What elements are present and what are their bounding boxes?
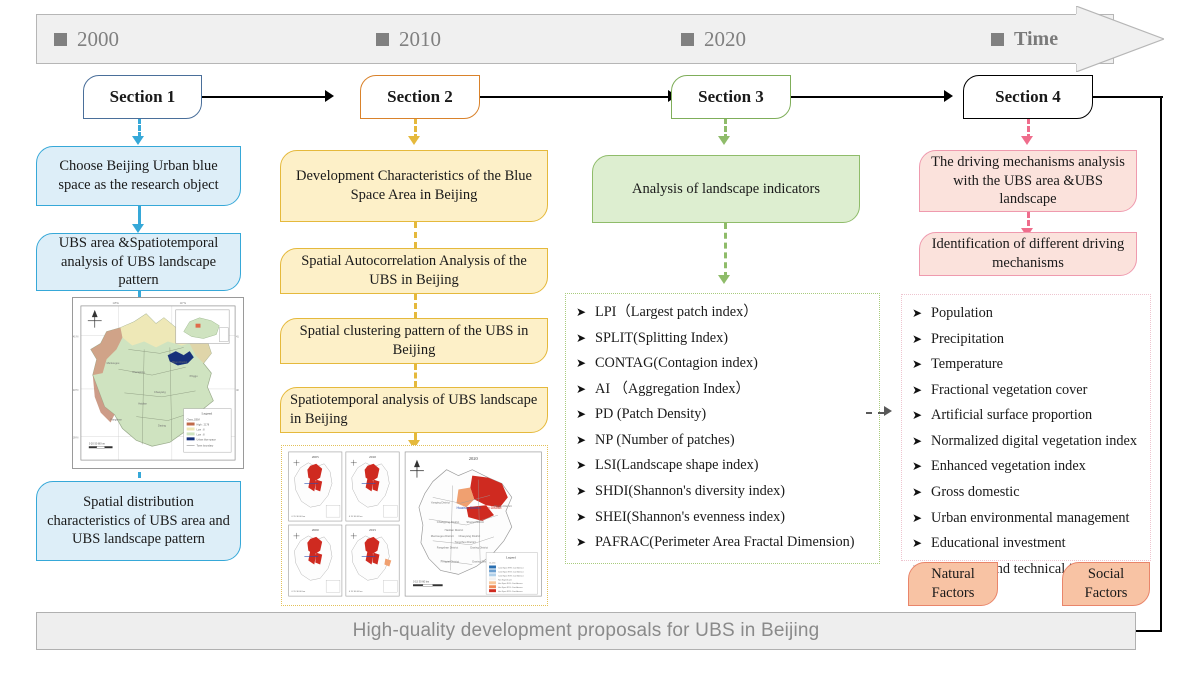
factor-label: Fractional vegetation cover <box>931 378 1087 404</box>
indicator-label: NP (Number of patches) <box>595 428 735 454</box>
indicator-label: LSI(Landscape shape index) <box>595 453 759 479</box>
timeline-arrowhead-icon <box>1076 6 1164 72</box>
connector-lists-dash <box>866 412 884 414</box>
svg-text:Yanqing District: Yanqing District <box>431 500 450 504</box>
svg-text:Pinggu: Pinggu <box>190 374 199 378</box>
section-label: Section 4 <box>995 87 1061 107</box>
arrowhead-icon <box>132 224 144 233</box>
svg-text:Mentougou: Mentougou <box>107 361 120 365</box>
indicator-list: ➤LPI（Largest patch index）➤SPLIT(Splittin… <box>566 294 879 562</box>
box-label: Spatial Autocorrelation Analysis of the … <box>290 252 538 289</box>
indicator-item: ➤SPLIT(Splitting Index) <box>576 326 873 352</box>
factor-label: Gross domestic <box>931 480 1020 506</box>
indicator-label: SHDI(Shannon's diversity index) <box>595 479 785 505</box>
box-label: Identification of different driving mech… <box>929 235 1127 272</box>
factor-item: ➤ Precipitation <box>912 327 1144 353</box>
svg-text:Changping: Changping <box>132 370 145 374</box>
bullet-arrow-icon: ➤ <box>576 430 595 451</box>
factor-label: Temperature <box>931 352 1003 378</box>
svg-text:0 15 30 60 km: 0 15 30 60 km <box>349 591 363 593</box>
map-graphic: MentougouMiyun District PingguChangping … <box>73 298 243 468</box>
indicator-label: PD (Patch Density) <box>595 402 706 428</box>
svg-text:Changping District: Changping District <box>437 520 460 524</box>
indicator-item: ➤LSI(Landscape shape index) <box>576 453 873 479</box>
svg-text:Shunyi District: Shunyi District <box>466 520 484 524</box>
bullet-arrow-icon: ➤ <box>576 507 595 528</box>
bullet-arrow-icon: ➤ <box>576 532 595 553</box>
connector-s3-s4 <box>789 96 947 98</box>
indicator-label: SPLIT(Splitting Index) <box>595 326 728 352</box>
svg-text:High : 2178: High : 2178 <box>197 424 210 427</box>
indicator-label: AI （Aggregation Index） <box>595 377 750 403</box>
svg-text:Mentougou District: Mentougou District <box>431 534 454 538</box>
svg-text:Cold Spot 99% Confidence: Cold Spot 99% Confidence <box>498 566 525 569</box>
bullet-arrow-icon: ➤ <box>576 455 595 476</box>
svg-text:Fangshan District: Fangshan District <box>437 546 459 550</box>
bullet-arrow-icon: ➤ <box>912 482 931 503</box>
connector-dash <box>414 364 417 387</box>
section-label: Section 1 <box>110 87 176 107</box>
banner-label: High-quality development proposals for U… <box>353 620 820 642</box>
svg-text:Fengtai District: Fengtai District <box>441 560 460 564</box>
svg-text:Low : 8: Low : 8 <box>197 428 206 431</box>
box-label: Analysis of landscape indicators <box>632 180 820 199</box>
indicator-label: CONTAG(Contagion index) <box>595 351 758 377</box>
svg-text:Daxing: Daxing <box>158 423 167 427</box>
timeline-tick-1: 2010 <box>376 14 441 64</box>
c2-map-panel: 2005 0 15 30 60 km 2010 0 15 30 60 km <box>281 445 548 606</box>
c2-box-development-characteristics[interactable]: Development Characteristics of the Blue … <box>280 150 548 222</box>
svg-text:0 15 30 60 km: 0 15 30 60 km <box>292 591 306 593</box>
svg-text:Miyun District: Miyun District <box>172 360 188 364</box>
bullet-square-icon <box>376 33 389 46</box>
connector-dash <box>138 118 141 138</box>
bullet-arrow-icon: ➤ <box>576 328 595 349</box>
svg-text:115°E: 115°E <box>113 302 120 305</box>
svg-text:Cold Spot 95% Confidence: Cold Spot 95% Confidence <box>498 570 525 573</box>
svg-text:Daxing District: Daxing District <box>470 546 488 550</box>
bullet-arrow-icon: ➤ <box>912 354 931 375</box>
connector-dash <box>414 294 417 318</box>
bullet-arrow-icon: ➤ <box>912 508 931 529</box>
factor-item: ➤Urban environmental management <box>912 506 1144 532</box>
box-label: Spatiotemporal analysis of UBS landscape… <box>290 391 538 428</box>
section-2-header[interactable]: Section 2 <box>360 75 480 119</box>
svg-text:Haidian: Haidian <box>138 402 147 406</box>
timeline-bar <box>36 14 1114 64</box>
factor-label: Artificial surface proportion <box>931 403 1092 429</box>
indicator-item: ➤AI （Aggregation Index） <box>576 377 873 403</box>
box-label: The driving mechanisms analysis with the… <box>929 153 1127 209</box>
svg-text:Hot Spot 99% Confidence: Hot Spot 99% Confidence <box>498 590 524 593</box>
c1-box-ubs-area[interactable]: UBS area &Spatiotemporal analysis of UBS… <box>36 233 241 291</box>
c1-box-research-object[interactable]: Choose Beijing Urban blue space as the r… <box>36 146 241 206</box>
factor-item: ➤Enhanced vegetation index <box>912 454 1144 480</box>
svg-text:Urban blue space: Urban blue space <box>197 438 217 441</box>
bullet-square-icon <box>681 33 694 46</box>
factor-item: ➤Population <box>912 301 1144 327</box>
section-1-header[interactable]: Section 1 <box>83 75 202 119</box>
connector-dash <box>724 223 727 278</box>
connector-right-down <box>1160 96 1162 631</box>
svg-text:0 15 30 60 km: 0 15 30 60 km <box>349 516 363 518</box>
svg-text:Low : 8: Low : 8 <box>197 433 206 436</box>
c4-factor-list-panel: ➤Population➤ Precipitation➤Temperature➤F… <box>901 294 1151 561</box>
bullet-arrow-icon: ➤ <box>576 353 595 374</box>
arrowhead-icon <box>944 90 953 102</box>
factor-item: ➤Fractional vegetation cover <box>912 378 1144 404</box>
svg-text:39°N: 39°N <box>73 436 79 439</box>
svg-text:Chaoyang District: Chaoyang District <box>458 534 480 538</box>
svg-text:Town boundary: Town boundary <box>197 444 215 447</box>
svg-text:Legend: Legend <box>201 412 212 416</box>
c3-box-analysis-indicators[interactable]: Analysis of landscape indicators <box>592 155 860 223</box>
factor-item: ➤Artificial surface proportion <box>912 403 1144 429</box>
svg-text:117°E: 117°E <box>180 302 187 305</box>
bullet-arrow-icon: ➤ <box>912 431 931 452</box>
arrowhead-icon <box>408 136 420 145</box>
svg-text:41°N: 41°N <box>73 336 79 339</box>
timeline-tick-label: 2020 <box>704 27 746 52</box>
indicator-item: ➤SHDI(Shannon's diversity index) <box>576 479 873 505</box>
svg-text:0 20 50 80 km: 0 20 50 80 km <box>89 441 105 445</box>
factor-item: ➤Gross domestic <box>912 480 1144 506</box>
svg-text:Gi_Bin: Gi_Bin <box>489 563 496 565</box>
indicator-label: PAFRAC(Perimeter Area Fractal Dimension) <box>595 530 855 556</box>
c4-natural-factors-box[interactable]: Natural Factors <box>908 562 998 606</box>
svg-text:2010: 2010 <box>369 455 376 459</box>
factor-label: Normalized digital vegetation index <box>931 429 1137 455</box>
c4-box-driving-mechanisms[interactable]: The driving mechanisms analysis with the… <box>919 150 1137 212</box>
indicator-item: ➤PD (Patch Density) <box>576 402 873 428</box>
svg-text:0 15 30 60 km: 0 15 30 60 km <box>292 516 306 518</box>
arrowhead-icon <box>884 406 892 416</box>
bullet-arrow-icon: ➤ <box>912 380 931 401</box>
svg-text:2015: 2015 <box>369 528 376 532</box>
c2-box-spatial-autocorrelation[interactable]: Spatial Autocorrelation Analysis of the … <box>280 248 548 294</box>
svg-text:Haidian District: Haidian District <box>445 528 464 532</box>
bottom-banner: High-quality development proposals for U… <box>36 612 1136 650</box>
indicator-label: LPI（Largest patch index） <box>595 300 758 326</box>
svg-text:2020: 2020 <box>469 456 479 461</box>
factor-label: Urban environmental management <box>931 506 1130 532</box>
indicator-item: ➤LPI（Largest patch index） <box>576 300 873 326</box>
bullet-square-icon <box>991 33 1004 46</box>
factor-label: Enhanced vegetation index <box>931 454 1086 480</box>
factor-label: Precipitation <box>931 327 1004 353</box>
indicator-item: ➤PAFRAC(Perimeter Area Fractal Dimension… <box>576 530 873 556</box>
svg-text:Cold Spot 90% Confidence: Cold Spot 90% Confidence <box>498 574 525 577</box>
section-3-header[interactable]: Section 3 <box>671 75 791 119</box>
bullet-arrow-icon: ➤ <box>912 533 931 554</box>
bullet-arrow-icon: ➤ <box>912 405 931 426</box>
timeline-tick-2: 2020 <box>681 14 746 64</box>
timeline-tick-label: Time <box>1014 28 1058 51</box>
svg-text:Hot Spot 90% Confidence: Hot Spot 90% Confidence <box>498 582 524 585</box>
c1-beijing-dem-map: MentougouMiyun District PingguChangping … <box>72 297 244 469</box>
connector-s2-s3 <box>478 96 671 98</box>
svg-text:Not Significant: Not Significant <box>498 578 512 581</box>
svg-text:2000: 2000 <box>312 528 319 532</box>
c4-social-factors-box[interactable]: Social Factors <box>1062 562 1150 606</box>
timeline-tick-0: 2000 <box>54 14 119 64</box>
box-label: Spatial distribution characteristics of … <box>46 493 231 549</box>
box-label: Development Characteristics of the Blue … <box>290 167 538 204</box>
indicator-item: ➤SHEI(Shannon's evenness index) <box>576 505 873 531</box>
box-label: Natural Factors <box>918 565 988 602</box>
timeline-header: 2000 2010 2020 Time <box>36 14 1164 64</box>
box-label: Choose Beijing Urban blue space as the r… <box>46 157 231 194</box>
box-label: Social Factors <box>1072 565 1140 602</box>
bullet-arrow-icon: ➤ <box>576 302 595 323</box>
factor-item: ➤Educational investment <box>912 531 1144 557</box>
arrowhead-icon <box>1021 136 1033 145</box>
bullet-square-icon <box>54 33 67 46</box>
section-label: Section 2 <box>387 87 453 107</box>
section-label: Section 3 <box>698 87 764 107</box>
svg-text:40°N: 40°N <box>73 389 79 392</box>
bullet-arrow-icon: ➤ <box>576 404 595 425</box>
indicator-item: ➤NP (Number of patches) <box>576 428 873 454</box>
indicator-label: SHEI(Shannon's evenness index) <box>595 505 785 531</box>
svg-text:Pinggu District: Pinggu District <box>494 504 512 508</box>
section-4-header[interactable]: Section 4 <box>963 75 1093 119</box>
hotspot-maps-graphic: 2005 0 15 30 60 km 2010 0 15 30 60 km <box>282 446 547 605</box>
connector-s4-right <box>1091 96 1163 98</box>
svg-text:Legend: Legend <box>506 556 516 560</box>
svg-text:2005: 2005 <box>312 455 319 459</box>
bullet-arrow-icon: ➤ <box>912 303 931 324</box>
arrowhead-icon <box>325 90 334 102</box>
timeline-tick-3: Time <box>991 14 1058 64</box>
svg-text:Hot Spot 95% Confidence: Hot Spot 95% Confidence <box>498 586 524 589</box>
factor-item: ➤Normalized digital vegetation index <box>912 429 1144 455</box>
factor-label: Population <box>931 301 993 327</box>
bullet-arrow-icon: ➤ <box>576 379 595 400</box>
arrowhead-icon <box>132 136 144 145</box>
factor-item: ➤Temperature <box>912 352 1144 378</box>
svg-text:0 15 30 60 k: 0 15 30 60 km <box>413 579 429 583</box>
c2-box-spatial-clustering[interactable]: Spatial clustering pattern of the UBS in… <box>280 318 548 364</box>
timeline-tick-label: 2000 <box>77 27 119 52</box>
svg-text:Fangshan: Fangshan <box>111 418 123 422</box>
bullet-arrow-icon: ➤ <box>576 481 595 502</box>
svg-text:Tongzhou District: Tongzhou District <box>454 540 475 544</box>
bullet-arrow-icon: ➤ <box>912 456 931 477</box>
connector-s1-s2 <box>200 96 328 98</box>
factor-list: ➤Population➤ Precipitation➤Temperature➤F… <box>902 295 1150 588</box>
c2-box-spatiotemporal-analysis[interactable]: Spatiotemporal analysis of UBS landscape… <box>280 387 548 433</box>
c3-indicator-list-panel: ➤LPI（Largest patch index）➤SPLIT(Splittin… <box>565 293 880 564</box>
c4-box-identification[interactable]: Identification of different driving mech… <box>919 232 1137 276</box>
svg-text:Huairou District: Huairou District <box>456 506 480 510</box>
factor-label: Educational investment <box>931 531 1066 557</box>
c1-box-spatial-distribution[interactable]: Spatial distribution characteristics of … <box>36 481 241 561</box>
svg-text:Class_DEM: Class_DEM <box>187 419 200 422</box>
svg-text:Chaoyang: Chaoyang <box>154 390 166 394</box>
box-label: Spatial clustering pattern of the UBS in… <box>290 322 538 359</box>
box-label: UBS area &Spatiotemporal analysis of UBS… <box>46 234 231 290</box>
timeline-tick-label: 2010 <box>399 27 441 52</box>
arrowhead-icon <box>718 136 730 145</box>
arrowhead-icon <box>718 275 730 284</box>
bullet-arrow-icon: ➤ <box>912 329 931 350</box>
connector-dash <box>414 222 417 248</box>
indicator-item: ➤CONTAG(Contagion index) <box>576 351 873 377</box>
